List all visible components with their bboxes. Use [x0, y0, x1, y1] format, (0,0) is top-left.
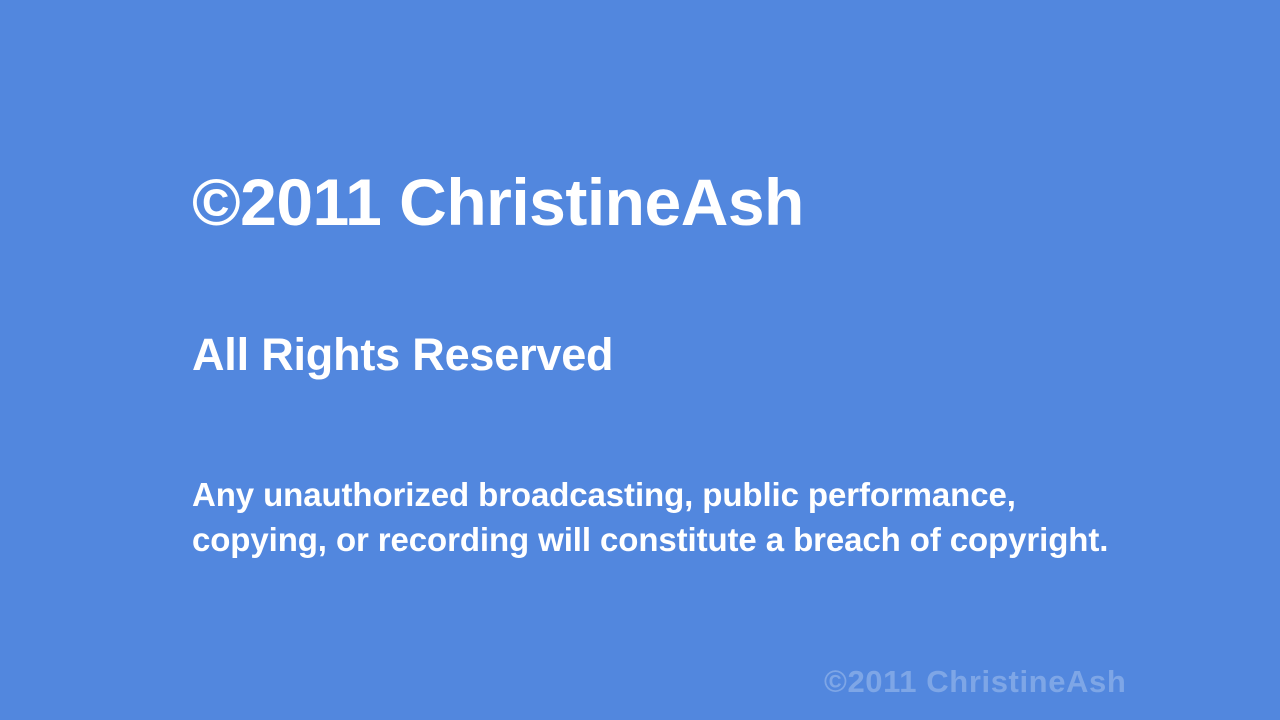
- slide-content: ©2011 ChristineAsh All Rights Reserved A…: [192, 0, 1232, 720]
- copyright-slide: ©2011 ChristineAsh All Rights Reserved A…: [0, 0, 1280, 720]
- notice-line-2: copying, or recording will constitute a …: [192, 517, 1202, 562]
- copyright-notice-paragraph: Any unauthorized broadcasting, public pe…: [192, 472, 1202, 562]
- notice-line-1: Any unauthorized broadcasting, public pe…: [192, 472, 1202, 517]
- all-rights-reserved-text: All Rights Reserved: [192, 330, 613, 380]
- watermark-text: ©2011 ChristineAsh: [824, 664, 1126, 700]
- copyright-title: ©2011 ChristineAsh: [192, 168, 804, 237]
